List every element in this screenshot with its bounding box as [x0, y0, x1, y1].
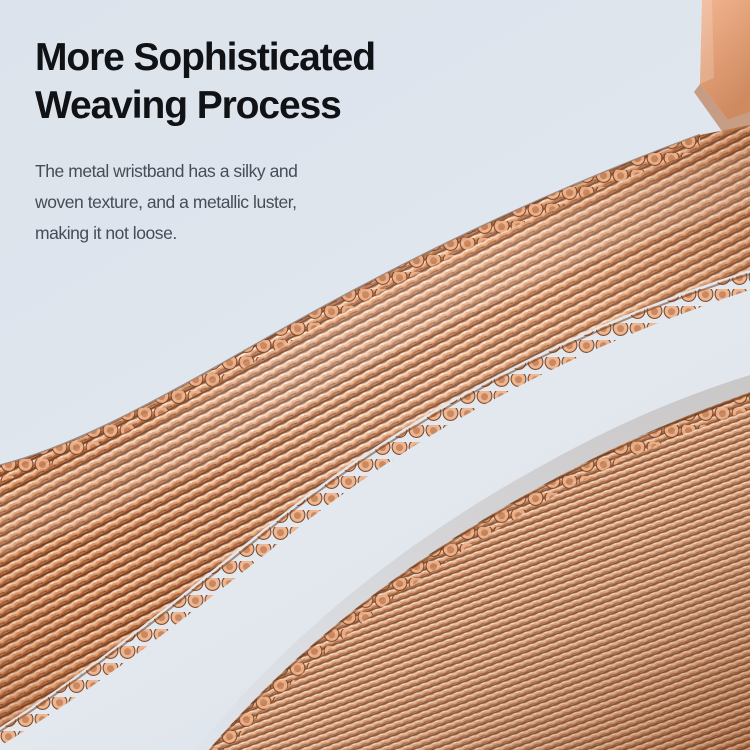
banner-text-block: More Sophisticated Weaving Process The m…	[35, 34, 435, 249]
clasp-end-piece	[694, 0, 750, 134]
page-title: More Sophisticated Weaving Process	[35, 34, 435, 130]
banner-description: The metal wristband has a silky and wove…	[35, 130, 435, 249]
product-banner: More Sophisticated Weaving Process The m…	[0, 0, 750, 750]
